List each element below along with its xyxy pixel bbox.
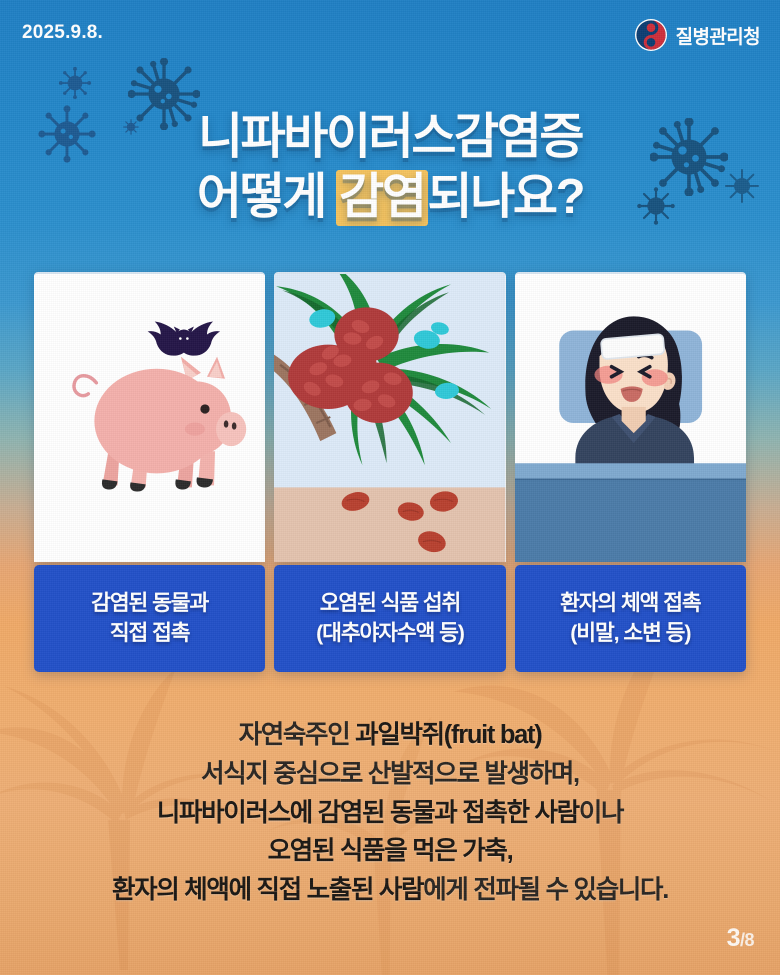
card-label-1-line1: 감염된 동물과 xyxy=(91,589,208,618)
infographic-poster: 2025.9.8. 질병관리청 xyxy=(0,0,780,975)
card-label-2-line1: 오염된 식품 섭취 xyxy=(320,589,461,618)
para-line4-bold: 오염된 식품을 먹은 가축, xyxy=(268,837,513,865)
para-line5-bold: 환자의 체액에 직접 노출된 사람 xyxy=(112,876,423,904)
card-label-2: 오염된 식품 섭취 (대추야자수액 등) xyxy=(274,565,505,672)
date-palm-tree-illustration xyxy=(274,272,505,562)
sick-patient-in-bed-illustration xyxy=(515,272,746,562)
title-line2-after: 되나요? xyxy=(428,170,584,224)
para-line-1: 자연숙주인 과일박쥐(fruit bat) xyxy=(0,716,780,755)
title-line-1: 니파바이러스감염증 xyxy=(0,108,780,168)
title-line-2: 어떻게 감염되나요? xyxy=(0,168,780,228)
para-line3-bold: 니파바이러스에 감염된 동물과 접촉한 사람 xyxy=(157,799,579,827)
para-line-4: 오염된 식품을 먹은 가축, xyxy=(0,832,780,871)
agency-logo: 질병관리청 xyxy=(634,18,760,52)
card-contaminated-food[interactable]: 오염된 식품 섭취 (대추야자수액 등) xyxy=(274,272,505,672)
page-current: 3 xyxy=(727,924,740,952)
para-line-2: 서식지 중심으로 산발적으로 발생하며, xyxy=(0,755,780,794)
page-total: 8 xyxy=(744,930,754,950)
poster-title: 니파바이러스감염증 어떻게 감염되나요? xyxy=(0,108,780,228)
para-line1-normal: 자연숙주인 xyxy=(239,721,356,749)
pig-and-bat-illustration xyxy=(34,272,265,562)
card-infected-animal-contact[interactable]: 감염된 동물과 직접 접촉 xyxy=(34,272,265,672)
card-patient-body-fluid[interactable]: 환자의 체액 접촉 (비말, 소변 등) xyxy=(515,272,746,672)
transmission-cards: 감염된 동물과 직접 접촉 xyxy=(34,272,746,672)
title-line2-before: 어떻게 xyxy=(197,170,336,224)
card-label-3-line2: (비말, 소변 등) xyxy=(570,619,690,648)
card-label-2-line2: (대추야자수액 등) xyxy=(316,619,464,648)
description-paragraph: 자연숙주인 과일박쥐(fruit bat) 서식지 중심으로 산발적으로 발생하… xyxy=(0,716,780,910)
card-label-1: 감염된 동물과 직접 접촉 xyxy=(34,565,265,672)
para-line-5: 환자의 체액에 직접 노출된 사람에게 전파될 수 있습니다. xyxy=(0,871,780,910)
publication-date: 2025.9.8. xyxy=(22,22,103,44)
card-label-3: 환자의 체액 접촉 (비말, 소변 등) xyxy=(515,565,746,672)
para-line1-bold: 과일박쥐(fruit bat) xyxy=(355,721,541,749)
para-line5-normal: 에게 전파될 수 있습니다. xyxy=(423,876,668,904)
page-indicator: 3/8 xyxy=(727,924,754,953)
para-line-3: 니파바이러스에 감염된 동물과 접촉한 사람이나 xyxy=(0,794,780,833)
para-line3-normal: 이나 xyxy=(579,799,623,827)
card-label-1-line2: 직접 접촉 xyxy=(110,619,190,648)
title-highlight: 감염 xyxy=(336,170,427,226)
taegeuk-icon xyxy=(634,18,668,52)
card-label-3-line1: 환자의 체액 접촉 xyxy=(560,589,701,618)
agency-name: 질병관리청 xyxy=(676,22,760,49)
virus-icon-left-small xyxy=(58,66,92,100)
